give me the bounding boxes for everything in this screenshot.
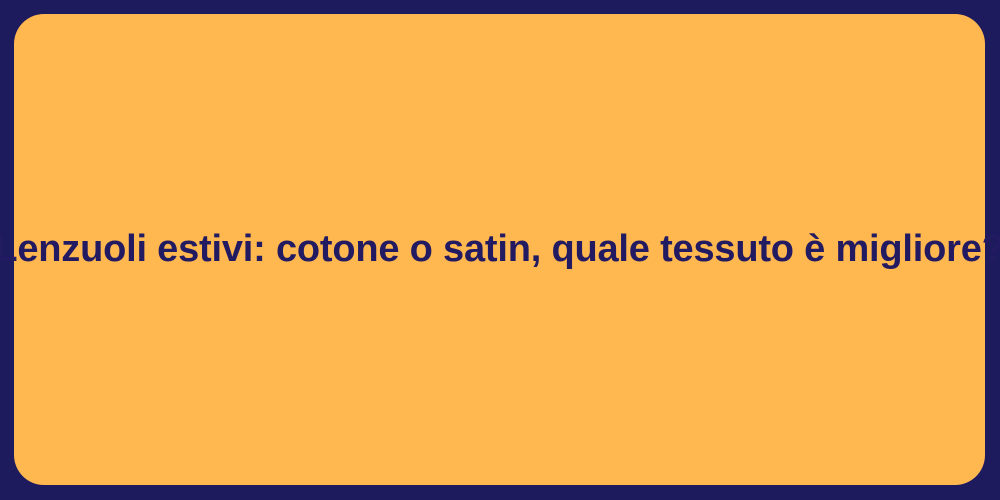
banner-frame: Lenzuoli estivi: cotone o satin, quale t… (0, 0, 1000, 500)
banner-heading: Lenzuoli estivi: cotone o satin, quale t… (0, 226, 1000, 274)
banner-card: Lenzuoli estivi: cotone o satin, quale t… (14, 14, 985, 485)
